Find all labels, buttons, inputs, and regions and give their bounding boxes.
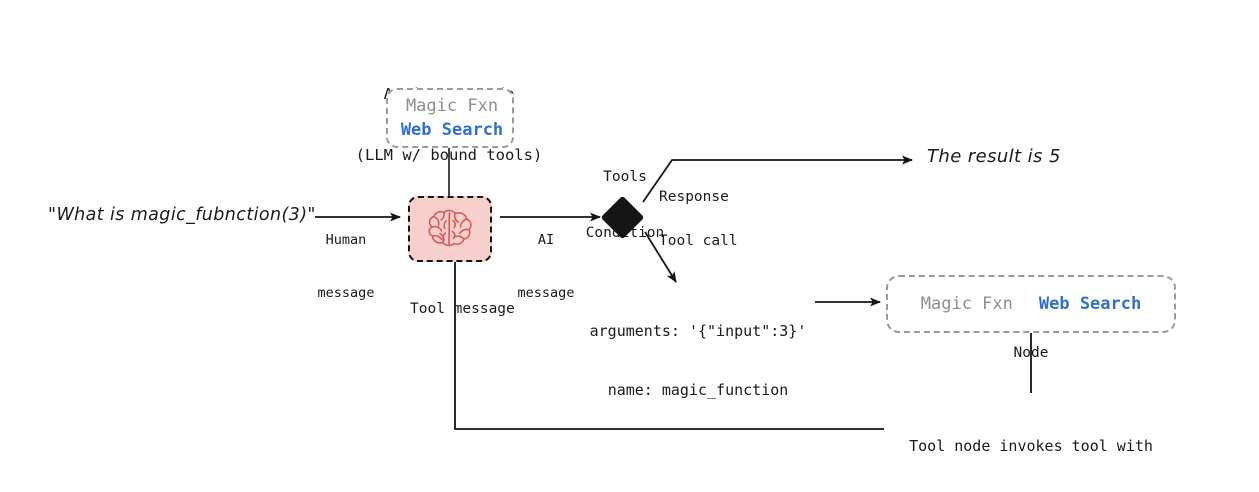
edge-label-tool-message: Tool message: [410, 300, 515, 319]
tool-node-box[interactable]: Magic Fxn Web Search: [886, 275, 1176, 333]
tool-call-payload-arguments: arguments: '{"input":3}': [578, 322, 818, 342]
assistant-llm-node[interactable]: [408, 196, 492, 262]
edge-label-ai-message-line2: message: [505, 285, 587, 303]
diagram-canvas: Assistant Node (LLM w/ bound tools) Magi…: [0, 0, 1259, 492]
tool-call-payload: arguments: '{"input":3}' name: magic_fun…: [578, 283, 818, 439]
tool-call-payload-name: name: magic_function: [578, 381, 818, 401]
assistant-tool-web-search[interactable]: Web Search: [388, 120, 516, 140]
edge-label-human-message-line2: message: [305, 285, 387, 303]
assistant-node-box[interactable]: Magic Fxn Web Search: [386, 88, 514, 148]
branch-label-response: Response: [659, 188, 729, 207]
response-output-text: The result is 5: [927, 146, 1061, 169]
user-message-text: "What is magic_fubnction(3)": [48, 205, 316, 227]
brain-icon: [422, 207, 478, 251]
branch-label-tool-call: Tool call: [659, 232, 738, 251]
tool-node-web-search[interactable]: Web Search: [1039, 294, 1141, 314]
tool-result-line1: Tool node invokes tool with: [876, 437, 1186, 457]
edge-label-human-message: Human message: [305, 197, 387, 337]
tools-condition-caption-line1: Tools: [552, 168, 698, 187]
tool-node-caption-line2: Node: [958, 344, 1104, 363]
edge-label-human-message-line1: Human: [305, 232, 387, 250]
assistant-tool-magic-fxn[interactable]: Magic Fxn: [388, 96, 516, 116]
tool-result-text: Tool node invokes tool with tool input a…: [876, 398, 1186, 492]
tool-node-magic-fxn[interactable]: Magic Fxn: [921, 294, 1013, 314]
